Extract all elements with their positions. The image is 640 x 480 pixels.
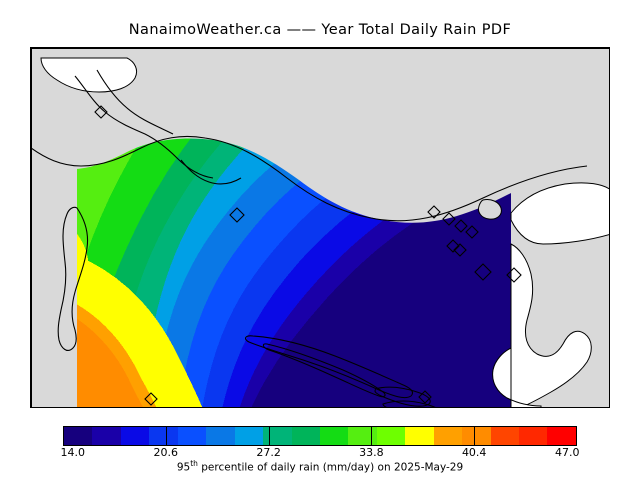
colorbar-band-7 xyxy=(263,427,291,445)
colorbar-band-3 xyxy=(149,427,177,445)
colorbar-band-2 xyxy=(121,427,149,445)
contour-raster xyxy=(77,48,511,408)
colorbar-band-12 xyxy=(405,427,433,445)
colorbar-tick-label: 40.4 xyxy=(462,446,487,459)
colorbar[interactable] xyxy=(63,426,577,446)
map-frame[interactable] xyxy=(30,47,610,408)
caption-text: percentile of daily rain (mm/day) on 202… xyxy=(198,462,463,474)
colorbar-band-9 xyxy=(320,427,348,445)
colorbar-band-14 xyxy=(462,427,490,445)
colorbar-band-17 xyxy=(547,427,575,445)
colorbar-band-13 xyxy=(434,427,462,445)
colorbar-tick-label: 47.0 xyxy=(555,446,580,459)
colorbar-caption: 95th percentile of daily rain (mm/day) o… xyxy=(0,459,640,474)
colorbar-band-6 xyxy=(235,427,263,445)
screenshot-root: NanaimoWeather.ca —— Year Total Daily Ra… xyxy=(0,0,640,480)
colorbar-band-16 xyxy=(519,427,547,445)
colorbar-tick-label: 27.2 xyxy=(256,446,281,459)
caption-value: 95 xyxy=(177,462,190,474)
colorbar-band-4 xyxy=(178,427,206,445)
colorbar-band-11 xyxy=(377,427,405,445)
colorbar-tick-labels: 14.020.627.233.840.447.0 xyxy=(63,446,577,460)
colorbar-band-1 xyxy=(92,427,120,445)
colorbar-tick-label: 14.0 xyxy=(61,446,86,459)
colorbar-bands xyxy=(63,426,577,446)
map-inner xyxy=(31,48,609,407)
colorbar-band-15 xyxy=(491,427,519,445)
colorbar-tick-label: 33.8 xyxy=(359,446,384,459)
colorbar-band-8 xyxy=(292,427,320,445)
colorbar-band-5 xyxy=(206,427,234,445)
colorbar-band-10 xyxy=(348,427,376,445)
caption-superscript: th xyxy=(190,459,198,468)
page-title: NanaimoWeather.ca —— Year Total Daily Ra… xyxy=(0,22,640,38)
colorbar-tick-label: 20.6 xyxy=(154,446,179,459)
colorbar-band-0 xyxy=(64,427,92,445)
